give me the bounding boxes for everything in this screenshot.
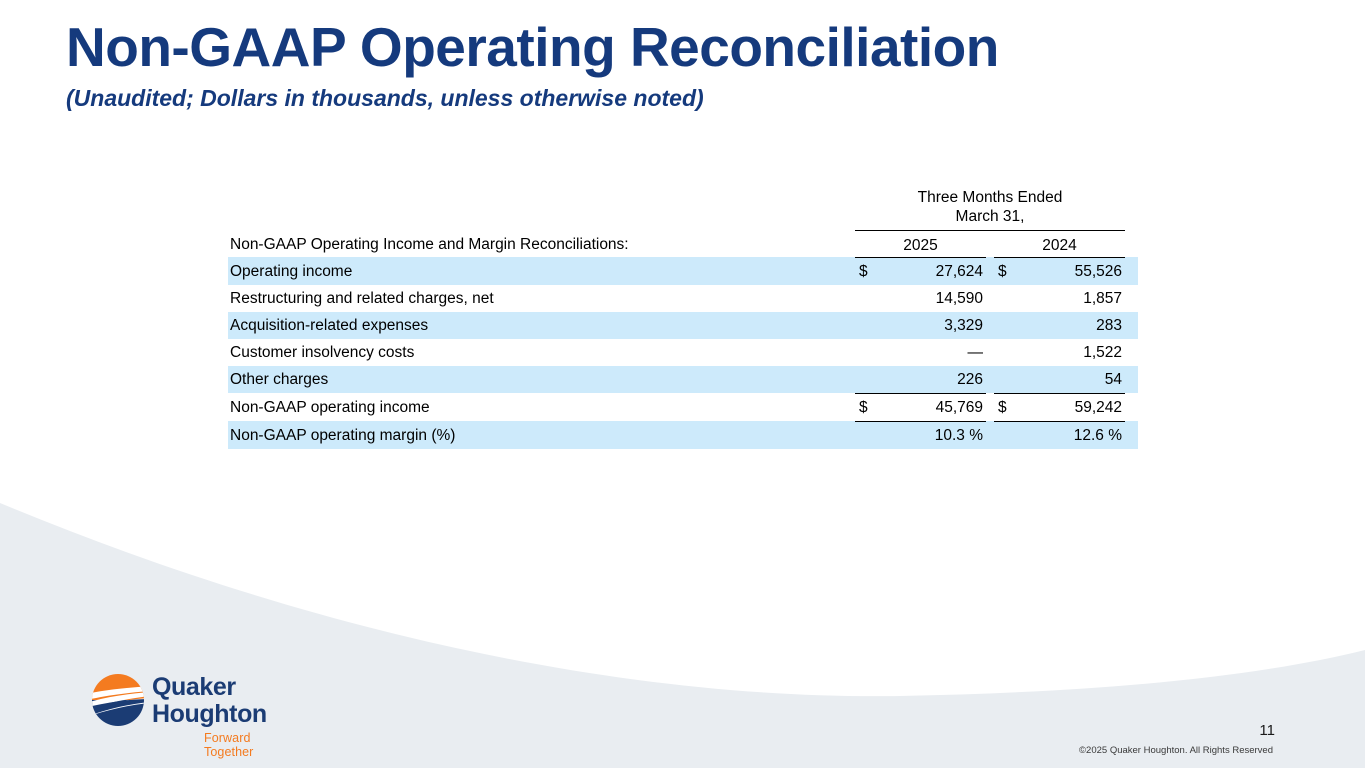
row-currency-2024 (994, 421, 1020, 449)
row-label: Non-GAAP operating income (228, 393, 855, 421)
row-value-2024: 54 (1020, 366, 1125, 394)
row-currency-2024 (994, 339, 1020, 366)
page-title: Non-GAAP Operating Reconciliation (66, 18, 999, 77)
table-row: Operating income $ 27,624 $ 55,526 (228, 257, 1138, 285)
header-pad-cell (1125, 230, 1138, 257)
table-column-header-row: Non-GAAP Operating Income and Margin Rec… (228, 230, 1138, 257)
section-title: Non-GAAP Operating Income and Margin Rec… (228, 230, 855, 257)
logo-wordmark: Quaker Houghton Forward Together (152, 674, 290, 759)
financial-table-container: Three Months Ended March 31, Non-GAAP Op… (228, 188, 1138, 449)
title-block: Non-GAAP Operating Reconciliation (Unaud… (66, 18, 999, 112)
column-header-2024: 2024 (994, 230, 1125, 257)
row-currency-2025 (855, 312, 881, 339)
row-value-2024: 1,522 (1020, 339, 1125, 366)
row-label: Acquisition-related expenses (228, 312, 855, 339)
row-value-2025: 27,624 (881, 257, 986, 285)
row-pad (1125, 257, 1138, 285)
non-gaap-operating-reconciliation-table: Three Months Ended March 31, Non-GAAP Op… (228, 188, 1138, 449)
table-group-header-row: Three Months Ended March 31, (228, 188, 1138, 230)
row-gap (986, 312, 994, 339)
column-header-2025: 2025 (855, 230, 986, 257)
spacer-cell (228, 188, 855, 230)
spacer-cell-right (1125, 188, 1138, 230)
row-currency-2024 (994, 366, 1020, 394)
row-value-2024: 59,242 (1020, 393, 1125, 421)
row-value-2025: 10.3 % (881, 421, 986, 449)
table-row: Other charges 226 54 (228, 366, 1138, 394)
row-currency-2025 (855, 339, 881, 366)
logo-tagline: Forward Together (204, 731, 290, 759)
row-value-2024: 1,857 (1020, 285, 1125, 312)
row-value-2025: 14,590 (881, 285, 986, 312)
row-gap (986, 257, 994, 285)
row-value-2024: 12.6 % (1020, 421, 1125, 449)
table-row: Acquisition-related expenses 3,329 283 (228, 312, 1138, 339)
row-value-2025: 3,329 (881, 312, 986, 339)
logo-mark-icon (90, 672, 146, 728)
row-label: Non-GAAP operating margin (%) (228, 421, 855, 449)
row-pad (1125, 285, 1138, 312)
row-currency-2024: $ (994, 393, 1020, 421)
row-currency-2025 (855, 366, 881, 394)
row-gap (986, 339, 994, 366)
row-currency-2025: $ (855, 393, 881, 421)
period-header-line1: Three Months Ended (855, 188, 1125, 207)
table-row: Restructuring and related charges, net 1… (228, 285, 1138, 312)
row-label: Restructuring and related charges, net (228, 285, 855, 312)
quaker-houghton-logo: Quaker Houghton Forward Together (90, 672, 290, 750)
column-gap (986, 230, 994, 257)
row-pad (1125, 393, 1138, 421)
row-gap (986, 393, 994, 421)
row-currency-2025 (855, 421, 881, 449)
row-pad (1125, 421, 1138, 449)
row-value-2025: — (881, 339, 986, 366)
row-currency-2024 (994, 285, 1020, 312)
row-value-2025: 226 (881, 366, 986, 394)
page-subtitle: (Unaudited; Dollars in thousands, unless… (66, 85, 999, 112)
copyright-notice: ©2025 Quaker Houghton. All Rights Reserv… (1079, 745, 1273, 756)
logo-line2: Houghton (152, 701, 290, 728)
row-gap (986, 285, 994, 312)
row-currency-2025 (855, 285, 881, 312)
row-label: Other charges (228, 366, 855, 394)
row-currency-2024 (994, 312, 1020, 339)
table-row: Non-GAAP operating margin (%) 10.3 % 12.… (228, 421, 1138, 449)
row-value-2025: 45,769 (881, 393, 986, 421)
table-row: Customer insolvency costs — 1,522 (228, 339, 1138, 366)
table-total-row: Non-GAAP operating income $ 45,769 $ 59,… (228, 393, 1138, 421)
row-currency-2024: $ (994, 257, 1020, 285)
table-body: Three Months Ended March 31, Non-GAAP Op… (228, 188, 1138, 449)
row-value-2024: 55,526 (1020, 257, 1125, 285)
row-currency-2025: $ (855, 257, 881, 285)
row-gap (986, 421, 994, 449)
period-header-line2: March 31, (855, 207, 1125, 226)
row-label: Operating income (228, 257, 855, 285)
period-header-cell: Three Months Ended March 31, (855, 188, 1125, 230)
slide-canvas: Non-GAAP Operating Reconciliation (Unaud… (0, 0, 1365, 768)
logo-line1: Quaker (152, 674, 290, 701)
row-gap (986, 366, 994, 394)
row-pad (1125, 339, 1138, 366)
row-pad (1125, 312, 1138, 339)
row-value-2024: 283 (1020, 312, 1125, 339)
row-pad (1125, 366, 1138, 394)
page-number: 11 (1259, 722, 1275, 739)
row-label: Customer insolvency costs (228, 339, 855, 366)
